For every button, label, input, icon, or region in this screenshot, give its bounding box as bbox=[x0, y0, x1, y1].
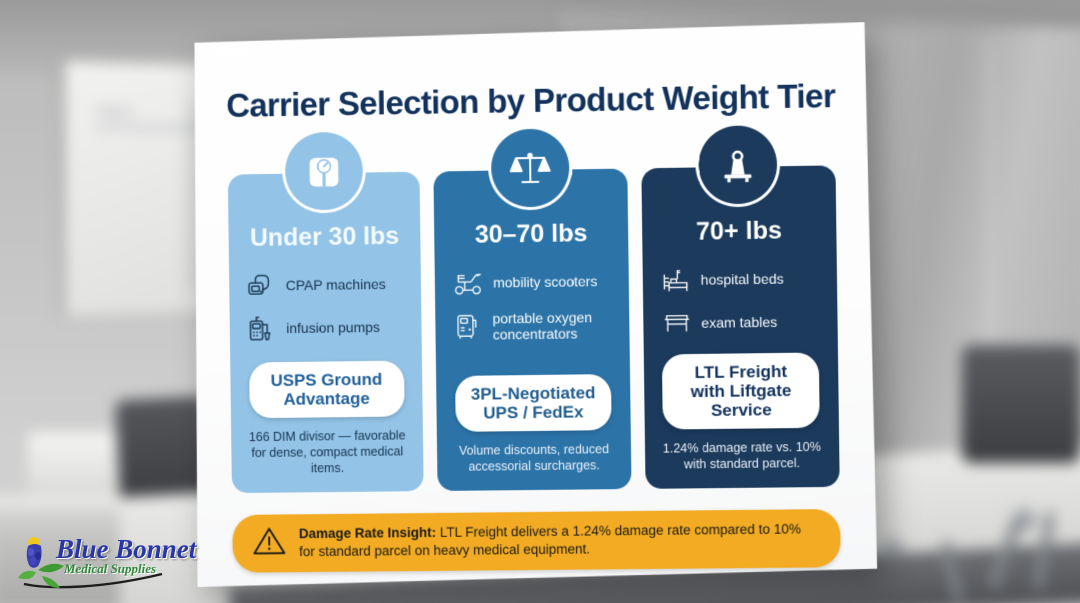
tier-item-list: mobility scooters bbox=[447, 266, 617, 356]
tier-item-list: CPAP machines bbox=[241, 269, 410, 357]
list-item-label: mobility scooters bbox=[493, 273, 611, 291]
tier-note: 166 DIM divisor — favorable for dense, c… bbox=[243, 427, 412, 477]
weight-on-platform-icon bbox=[695, 122, 781, 208]
tier-note: Volume discounts, reduced accessorial su… bbox=[449, 441, 619, 475]
bathroom-scale-icon bbox=[281, 129, 366, 214]
poster-board: Carrier Selection by Product Weight Tier… bbox=[190, 22, 877, 587]
mobility-scooter-icon bbox=[453, 268, 484, 298]
carrier-recommendation-pill[interactable]: LTL Freight with Liftgate Service bbox=[662, 352, 820, 429]
list-item-label: hospital beds bbox=[701, 270, 819, 288]
list-item-label: CPAP machines bbox=[286, 276, 404, 294]
oxygen-concentrator-icon bbox=[454, 312, 484, 342]
list-item: infusion pumps bbox=[247, 312, 404, 344]
list-item: mobility scooters bbox=[453, 266, 611, 298]
chair-right bbox=[962, 345, 1080, 463]
list-item-label: exam tables bbox=[701, 313, 819, 331]
tier-card-30-70[interactable]: 30–70 lbs bbox=[434, 169, 631, 491]
carrier-recommendation-pill[interactable]: 3PL-Negotiated UPS / FedEx bbox=[455, 374, 611, 432]
tier-card-under-30[interactable]: Under 30 lbs CPAP machines bbox=[228, 172, 424, 493]
poster-surface: Carrier Selection by Product Weight Tier… bbox=[190, 22, 877, 587]
damage-rate-insight-banner: Damage Rate Insight: LTL Freight deliver… bbox=[232, 509, 841, 573]
list-item: CPAP machines bbox=[247, 269, 404, 301]
tier-title: 70+ lbs bbox=[696, 216, 782, 246]
carrier-recommendation-pill[interactable]: USPS Ground Advantage bbox=[249, 361, 404, 419]
list-item: portable oxygen concentrators bbox=[454, 309, 612, 343]
tier-card-70-plus[interactable]: 70+ lbs bbox=[641, 165, 840, 488]
tier-title: 30–70 lbs bbox=[475, 219, 588, 250]
chair-knob bbox=[880, 538, 902, 560]
balance-scales-icon bbox=[488, 125, 573, 210]
cpap-machine-icon bbox=[247, 270, 277, 300]
tier-note: 1.24% damage rate vs. 10% with standard … bbox=[657, 439, 828, 473]
brand-logo: Blue Bonnet Medical Supplies bbox=[12, 528, 184, 594]
hospital-bed-icon bbox=[660, 265, 692, 295]
whiteboard-heading-left: Notice bbox=[98, 106, 133, 119]
infusion-pump-icon bbox=[247, 313, 277, 343]
tier-title: Under 30 lbs bbox=[250, 222, 399, 253]
list-item-label: infusion pumps bbox=[286, 319, 404, 337]
warning-triangle-icon bbox=[252, 525, 286, 561]
logo-tagline: Medical Supplies bbox=[64, 561, 156, 577]
list-item-label: portable oxygen concentrators bbox=[492, 309, 611, 343]
weight-tier-card-row: Under 30 lbs CPAP machines bbox=[220, 165, 848, 493]
tier-item-list: hospital beds exam tables bbox=[654, 263, 825, 351]
banner-text: Damage Rate Insight: LTL Freight deliver… bbox=[299, 520, 821, 561]
list-item: hospital beds bbox=[660, 263, 819, 295]
exam-table-icon bbox=[661, 308, 693, 338]
banner-label: Damage Rate Insight: bbox=[299, 525, 436, 541]
page-title: Carrier Selection by Product Weight Tier bbox=[219, 77, 843, 125]
list-item: exam tables bbox=[661, 306, 820, 338]
